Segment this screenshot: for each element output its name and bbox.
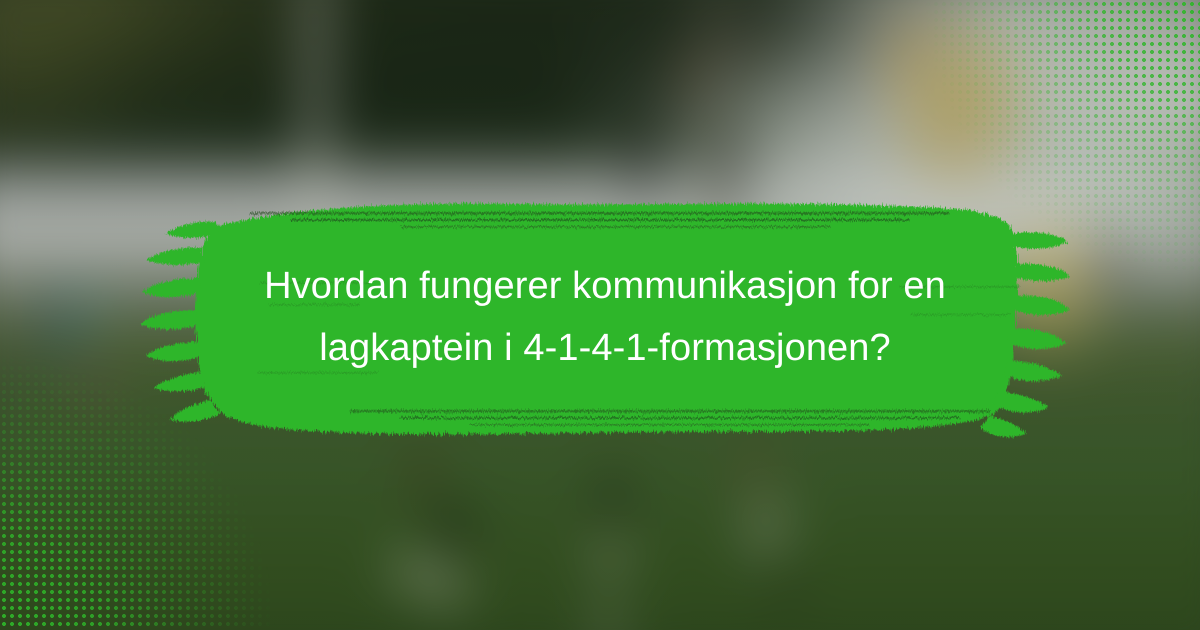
headline-line-1: Hvordan fungerer kommunikasjon for en [264,258,946,314]
brush-stroke-banner: Hvordan fungerer kommunikasjon for en la… [140,186,1070,448]
social-share-card: Hvordan fungerer kommunikasjon for en la… [0,0,1200,630]
headline-line-2: lagkaptein i 4-1-4-1-formasjonen? [319,320,891,376]
headline-block: Hvordan fungerer kommunikasjon for en la… [140,186,1070,448]
